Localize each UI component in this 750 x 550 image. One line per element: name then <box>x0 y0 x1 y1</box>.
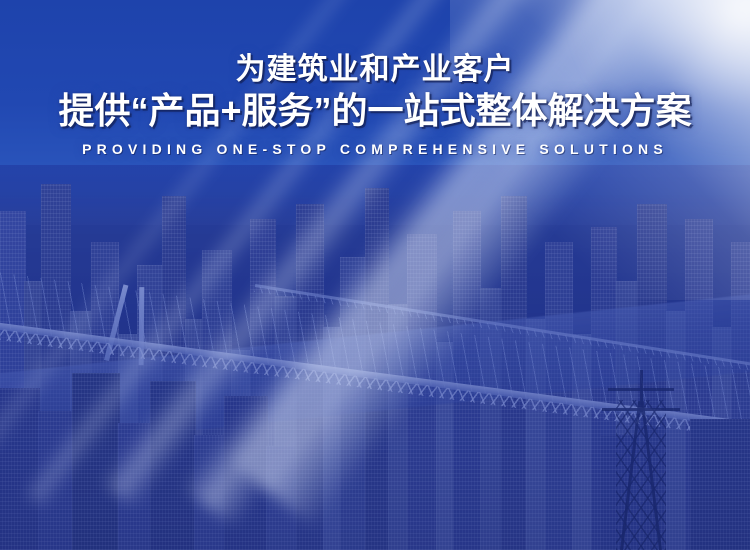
banner-copy: 为建筑业和产业客户 提供“产品+服务”的一站式整体解决方案 PROVIDING … <box>0 52 750 157</box>
hero-banner: 为建筑业和产业客户 提供“产品+服务”的一站式整体解决方案 PROVIDING … <box>0 0 750 550</box>
subtitle-english: PROVIDING ONE-STOP COMPREHENSIVE SOLUTIO… <box>0 141 750 157</box>
headline-line-1: 为建筑业和产业客户 <box>0 52 750 87</box>
headline-line-2: 提供“产品+服务”的一站式整体解决方案 <box>0 89 750 132</box>
blue-wash-overlay <box>0 165 750 550</box>
cityscape-image <box>0 165 750 550</box>
